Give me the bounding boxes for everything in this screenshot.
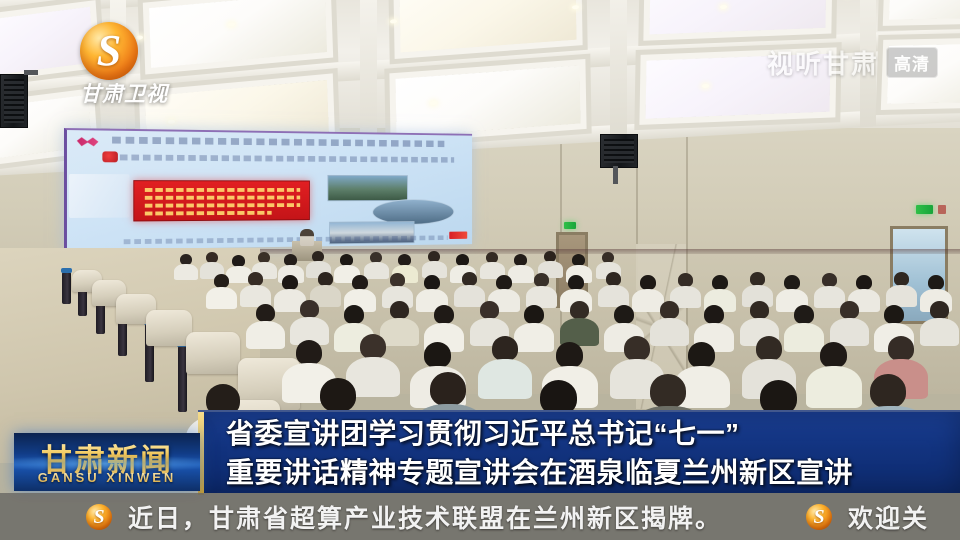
station-globe-icon: S [86,504,112,530]
slide-red-textbox [133,180,310,221]
ticker-logo-mark: S [806,504,832,530]
wall-speaker-left [0,74,28,128]
broadcast-screen: S 甘肃卫视 视听甘肃 高清 省委宣讲团学习贯彻习近平总书记“七一” 重要讲话精… [0,0,960,540]
exit-sign-icon-left [564,222,576,229]
slide-corner-logo [449,232,467,239]
program-logo-plate: 甘肃新闻 GANSU XINWEN [14,433,200,491]
exit-sign-icon [916,205,933,214]
ticker-text: 近日，甘肃省超算产业技术联盟在兰州新区揭牌。 [128,499,722,535]
news-ticker: S 近日，甘肃省超算产业技术联盟在兰州新区揭牌。 S 欢迎关 [0,493,960,540]
station-globe-icon: S [806,504,832,530]
led-presentation-screen [64,128,472,250]
wall-speaker-right [600,134,638,168]
ticker-item: S 近日，甘肃省超算产业技术联盟在兰州新区揭牌。 [86,499,722,535]
ticker-item: S 欢迎关 [806,499,929,535]
slide-badge-icon [102,151,118,162]
presenter [300,229,314,246]
party-emblem-icon [77,135,102,149]
hall-ceiling [0,0,960,128]
slide-photo-mountain [327,175,407,201]
headline-line-1: 省委宣讲团学习贯彻习近平总书记“七一” [226,414,960,453]
ticker-logo-mark: S [86,504,112,530]
headline-banner: 省委宣讲团学习贯彻习近平总书记“七一” 重要讲话精神专题宣讲会在酒泉临夏兰州新区… [198,410,960,493]
program-title-pinyin: GANSU XINWEN [14,470,200,485]
ticker-text: 欢迎关 [848,499,929,535]
fire-alarm-icon [938,205,946,214]
headline-line-2: 重要讲话精神专题宣讲会在酒泉临夏兰州新区宣讲 [226,453,960,492]
